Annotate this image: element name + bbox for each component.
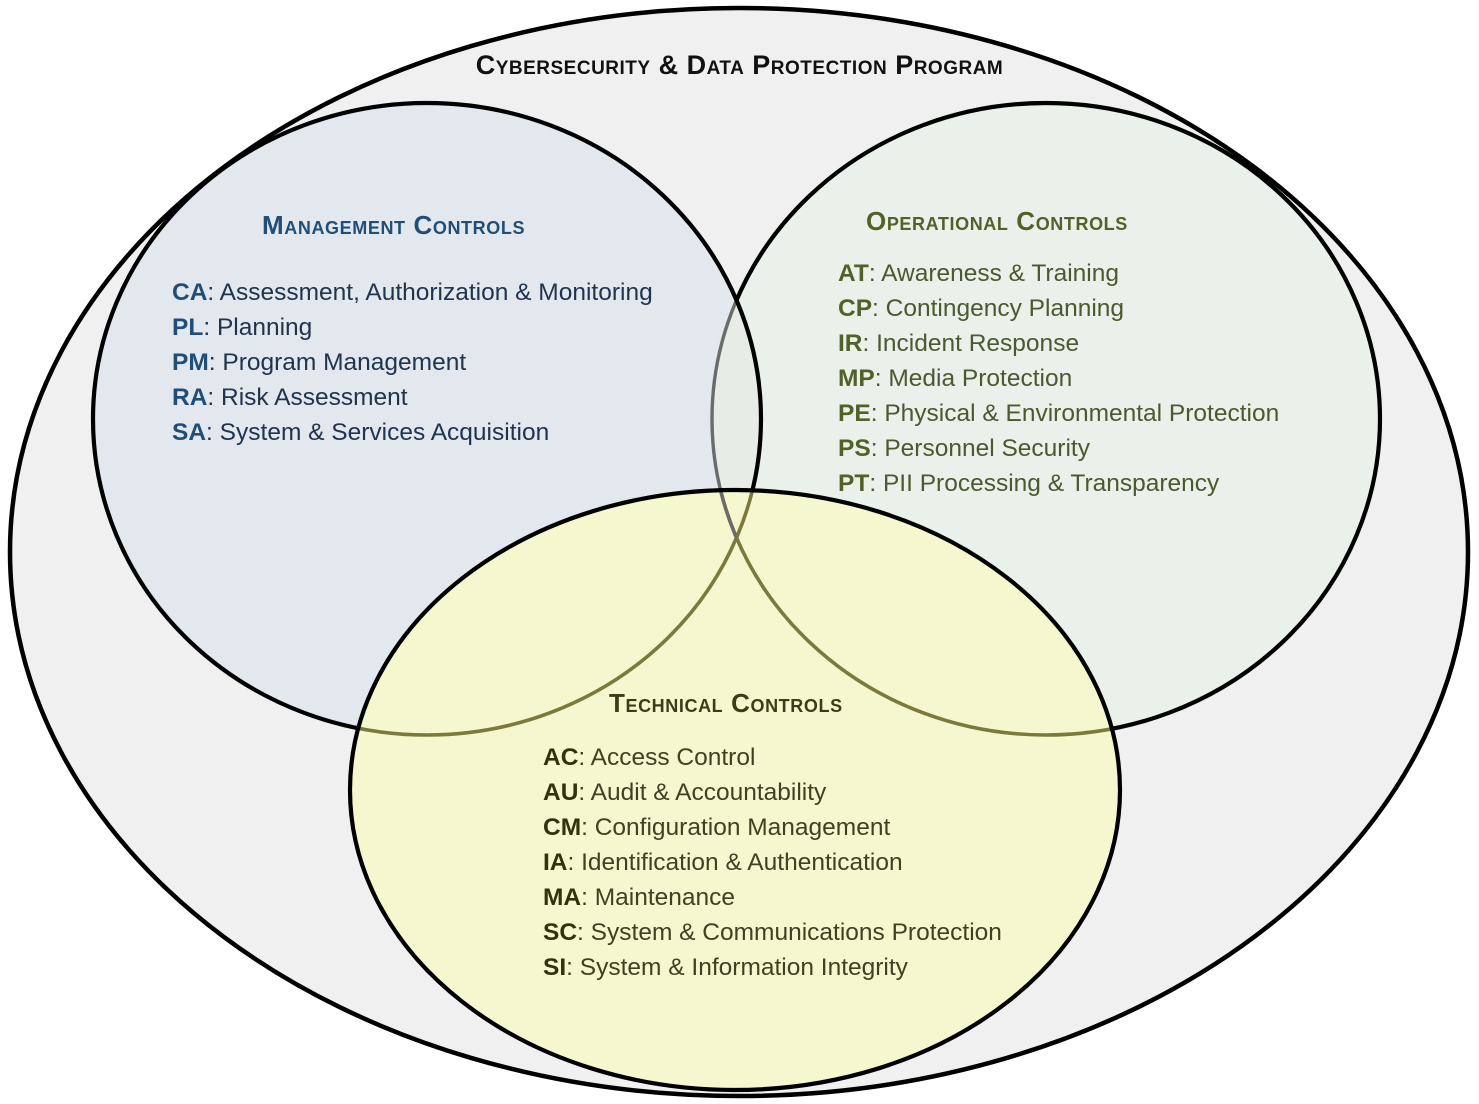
technical-controls-list: AC: Access Control AU: Audit & Accountab… — [543, 740, 1002, 985]
control-label: Risk Assessment — [221, 384, 408, 411]
control-separator: : — [578, 744, 590, 771]
list-item: CM: Configuration Management — [543, 810, 1002, 845]
list-item: PL: Planning — [172, 310, 653, 345]
list-item: PT: PII Processing & Transparency — [838, 466, 1279, 501]
control-separator: : — [869, 470, 883, 497]
control-code: PT — [838, 470, 869, 497]
control-label: Configuration Management — [595, 814, 891, 841]
list-item: MA: Maintenance — [543, 880, 1002, 915]
operational-controls-heading: Operational Controls — [866, 206, 1128, 237]
list-item: AU: Audit & Accountability — [543, 775, 1002, 810]
control-code: CM — [543, 814, 581, 841]
list-item: IA: Identification & Authentication — [543, 845, 1002, 880]
control-code: PS — [838, 435, 871, 462]
technical-controls-heading: Technical Controls — [609, 688, 843, 719]
control-separator: : — [203, 314, 217, 341]
control-label: Awareness & Training — [881, 260, 1119, 287]
management-controls-list: CA: Assessment, Authorization & Monitori… — [172, 275, 653, 450]
list-item: AC: Access Control — [543, 740, 1002, 775]
control-label: Physical & Environmental Protection — [884, 400, 1279, 427]
venn-diagram: Cybersecurity & Data Protection Program … — [0, 0, 1479, 1104]
list-item: CP: Contingency Planning — [838, 291, 1279, 326]
control-label: Audit & Accountability — [591, 779, 827, 806]
list-item: CA: Assessment, Authorization & Monitori… — [172, 275, 653, 310]
control-code: PL — [172, 314, 203, 341]
list-item: SI: System & Information Integrity — [543, 950, 1002, 985]
control-code: AU — [543, 779, 578, 806]
control-label: Contingency Planning — [886, 295, 1124, 322]
list-item: PM: Program Management — [172, 345, 653, 380]
list-item: PS: Personnel Security — [838, 431, 1279, 466]
list-item: IR: Incident Response — [838, 326, 1279, 361]
list-item: PE: Physical & Environmental Protection — [838, 396, 1279, 431]
control-code: SC — [543, 919, 577, 946]
control-label: Maintenance — [595, 884, 735, 911]
control-separator: : — [871, 435, 885, 462]
control-code: SI — [543, 954, 566, 981]
control-code: RA — [172, 384, 207, 411]
control-code: AC — [543, 744, 578, 771]
control-label: Personnel Security — [884, 435, 1090, 462]
control-label: Assessment, Authorization & Monitoring — [220, 279, 653, 306]
control-label: Planning — [217, 314, 312, 341]
control-separator: : — [871, 400, 885, 427]
list-item: SA: System & Services Acquisition — [172, 415, 653, 450]
management-controls-heading: Management Controls — [262, 210, 525, 241]
control-separator: : — [206, 419, 220, 446]
control-separator: : — [875, 365, 889, 392]
control-label: System & Information Integrity — [580, 954, 908, 981]
control-separator: : — [568, 849, 582, 876]
list-item: AT: Awareness & Training — [838, 256, 1279, 291]
control-separator: : — [209, 349, 223, 376]
control-separator: : — [581, 814, 595, 841]
control-code: PE — [838, 400, 871, 427]
control-code: IA — [543, 849, 568, 876]
control-separator: : — [207, 384, 221, 411]
list-item: RA: Risk Assessment — [172, 380, 653, 415]
control-separator: : — [566, 954, 580, 981]
control-label: Program Management — [222, 349, 466, 376]
control-code: CP — [838, 295, 872, 322]
list-item: SC: System & Communications Protection — [543, 915, 1002, 950]
control-code: AT — [838, 260, 869, 287]
control-code: CA — [172, 279, 207, 306]
control-label: Identification & Authentication — [581, 849, 902, 876]
control-separator: : — [872, 295, 886, 322]
control-code: MP — [838, 365, 875, 392]
control-separator: : — [577, 919, 591, 946]
list-item: MP: Media Protection — [838, 361, 1279, 396]
control-label: System & Communications Protection — [591, 919, 1002, 946]
control-code: MA — [543, 884, 581, 911]
control-label: System & Services Acquisition — [220, 419, 550, 446]
control-separator: : — [863, 330, 877, 357]
control-code: PM — [172, 349, 209, 376]
control-separator: : — [581, 884, 595, 911]
control-separator: : — [869, 260, 881, 287]
control-label: Media Protection — [888, 365, 1072, 392]
operational-controls-list: AT: Awareness & Training CP: Contingency… — [838, 256, 1279, 501]
control-separator: : — [207, 279, 219, 306]
control-label: Access Control — [591, 744, 756, 771]
program-title: Cybersecurity & Data Protection Program — [0, 50, 1479, 81]
control-code: IR — [838, 330, 863, 357]
control-label: Incident Response — [876, 330, 1079, 357]
control-code: SA — [172, 419, 206, 446]
control-label: PII Processing & Transparency — [883, 470, 1219, 497]
control-separator: : — [578, 779, 590, 806]
